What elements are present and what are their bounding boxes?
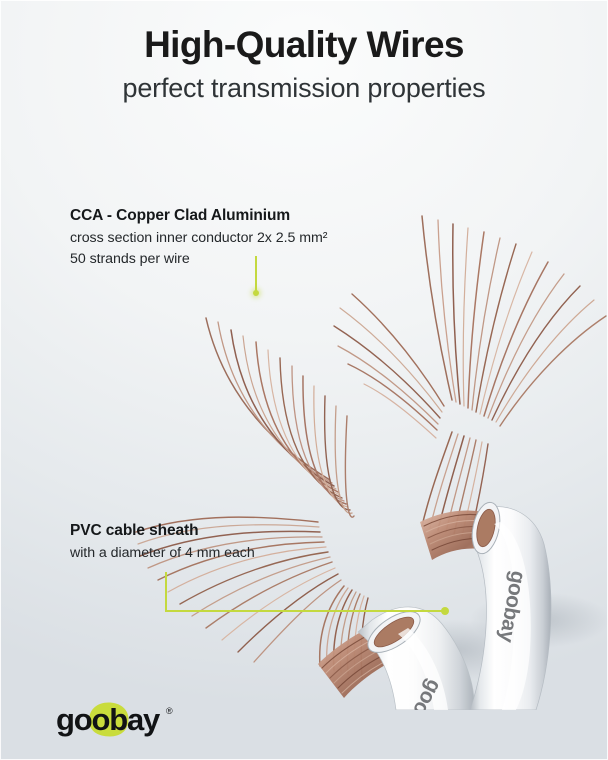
leader-vertical-segment — [165, 572, 167, 612]
annotation-pvc: PVC cable sheath with a diameter of 4 mm… — [70, 521, 255, 563]
leader-endpoint-dot — [441, 607, 449, 615]
logo-wordmark: goobay — [56, 702, 161, 737]
header-block: High-Quality Wires perfect transmission … — [0, 26, 608, 104]
annotation-cca-heading: CCA - Copper Clad Aluminium — [70, 206, 327, 227]
infographic-canvas: High-Quality Wires perfect transmission … — [0, 0, 608, 760]
page-title: High-Quality Wires — [0, 26, 608, 65]
logo-registered-mark: ® — [166, 706, 173, 716]
page-subtitle: perfect transmission properties — [0, 73, 608, 104]
annotation-cca-line-2: 50 strands per wire — [70, 249, 327, 269]
annotation-cca-line-1: cross section inner conductor 2x 2.5 mm² — [70, 228, 327, 248]
goobay-logo: goobay ® — [48, 700, 198, 740]
annotation-pvc-line-1: with a diameter of 4 mm each — [70, 543, 255, 563]
leader-line-pvc — [165, 572, 451, 618]
annotation-pvc-heading: PVC cable sheath — [70, 521, 255, 542]
leader-horizontal-segment — [165, 610, 445, 612]
leader-line-cca — [253, 256, 259, 302]
leader-stem — [255, 256, 257, 294]
annotation-cca: CCA - Copper Clad Aluminium cross sectio… — [70, 206, 327, 269]
leader-endpoint-dot — [253, 290, 259, 296]
